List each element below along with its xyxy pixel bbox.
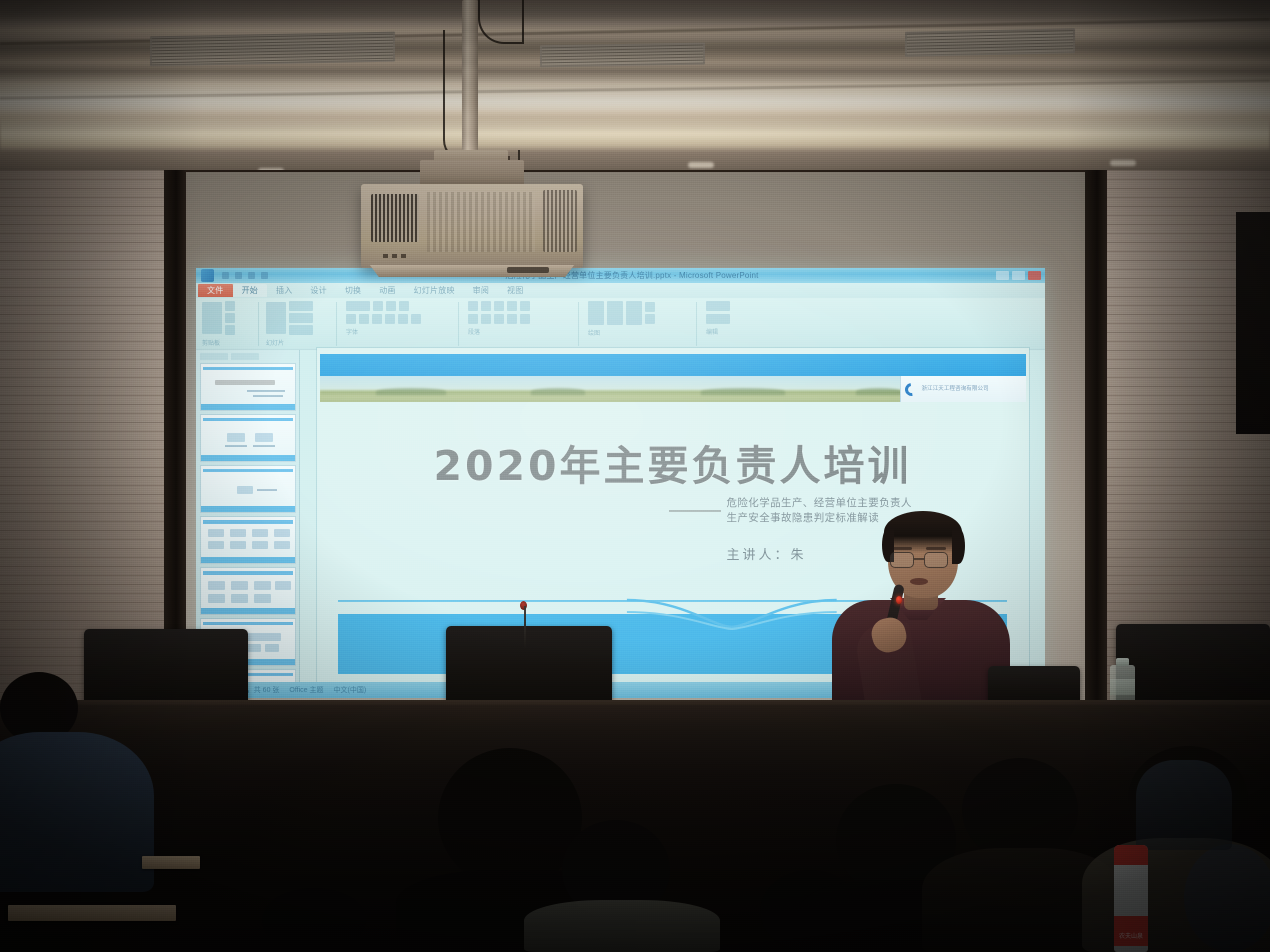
ac-vent-icon: [540, 43, 705, 68]
microphone-led-icon: [896, 596, 902, 604]
audience-desk: [142, 856, 200, 869]
water-bottle-audience: 农夫山泉: [1114, 845, 1148, 952]
quick-access-toolbar[interactable]: [222, 272, 268, 279]
tab-transitions[interactable]: 切换: [336, 284, 370, 297]
scene-photo: 危险化学品生产经营单位主要负责人培训.pptx - Microsoft Powe…: [0, 0, 1270, 952]
tab-slideshow[interactable]: 幻灯片放映: [405, 284, 464, 297]
list-item[interactable]: [200, 516, 296, 564]
company-mark-icon: [902, 380, 920, 398]
thumbnail-pane-tabs[interactable]: [200, 353, 295, 360]
window-titlebar: 危险化学品生产经营单位主要负责人培训.pptx - Microsoft Powe…: [196, 268, 1045, 283]
align-center-icon[interactable]: [481, 314, 491, 324]
list-item[interactable]: [200, 363, 296, 411]
bold-icon[interactable]: [346, 314, 356, 324]
audience-head: [438, 748, 582, 888]
open-book-icon: [626, 596, 836, 630]
projector-vent-icon: [543, 190, 577, 252]
arrange-button[interactable]: [607, 301, 623, 325]
company-name: 浙江江天工程咨询有限公司: [922, 386, 989, 392]
projector-bracket: [420, 160, 524, 186]
underline-icon[interactable]: [372, 314, 382, 324]
font-size-select[interactable]: [373, 301, 383, 311]
cove-light: [0, 118, 1270, 152]
slide-subtitle-rule: [669, 510, 721, 512]
tab-review[interactable]: 审阅: [464, 284, 498, 297]
replace-button[interactable]: [706, 314, 730, 324]
cut-icon[interactable]: [225, 301, 235, 311]
shrink-font-icon[interactable]: [399, 301, 409, 311]
font-color-icon[interactable]: [411, 314, 421, 324]
ribbon-group-label: 幻灯片: [266, 338, 284, 347]
list-item[interactable]: [200, 414, 296, 462]
audience-body: [524, 900, 720, 952]
projector-status-leds: [383, 254, 406, 258]
chair: [1116, 624, 1270, 708]
tab-file[interactable]: 文件: [198, 284, 233, 297]
ribbon-tabs[interactable]: 文件 开始 插入 设计 切换 动画 幻灯片放映 审阅 视图: [196, 283, 1045, 298]
justify-icon[interactable]: [507, 314, 517, 324]
slide-subtitle-line1: 危险化学品生产、经营单位主要负责人: [727, 496, 1017, 511]
quick-styles-button[interactable]: [626, 301, 642, 325]
ac-vent-icon: [150, 32, 395, 67]
minimize-button[interactable]: [996, 271, 1009, 280]
projector-vent-icon: [371, 194, 419, 242]
language-indicator[interactable]: 中文(中国): [334, 685, 367, 695]
save-icon[interactable]: [222, 272, 229, 279]
chair: [446, 626, 612, 707]
list-item[interactable]: [200, 567, 296, 615]
redo-icon[interactable]: [248, 272, 255, 279]
screen-frame-right: [1085, 170, 1107, 715]
outline-tab[interactable]: [231, 353, 259, 360]
ribbon-group-label: 编辑: [706, 327, 718, 336]
close-button[interactable]: [1028, 271, 1041, 280]
tab-animations[interactable]: 动画: [370, 284, 404, 297]
tab-view[interactable]: 视图: [498, 284, 532, 297]
layout-button[interactable]: [289, 301, 313, 311]
audience-head: [962, 758, 1078, 862]
audience-body: [0, 732, 154, 892]
window-controls[interactable]: [996, 271, 1041, 280]
strikethrough-icon[interactable]: [398, 314, 408, 324]
decrease-indent-icon[interactable]: [494, 301, 504, 311]
find-button[interactable]: [706, 301, 730, 311]
shapes-gallery[interactable]: [588, 301, 604, 325]
eyeglasses-icon: [924, 552, 948, 568]
office-orb-icon[interactable]: [201, 269, 214, 282]
increase-indent-icon[interactable]: [507, 301, 517, 311]
format-painter-icon[interactable]: [225, 325, 235, 335]
theme-name: Office 主题: [289, 685, 323, 695]
eyeglasses-icon: [890, 552, 914, 568]
tab-home[interactable]: 开始: [233, 284, 267, 297]
list-item[interactable]: [200, 465, 296, 513]
shape-fill-icon[interactable]: [645, 302, 655, 312]
ribbon-group-label: 剪贴板: [202, 338, 220, 347]
chair: [84, 629, 248, 707]
line-spacing-icon[interactable]: [520, 301, 530, 311]
audience-desk: [8, 905, 176, 921]
italic-icon[interactable]: [359, 314, 369, 324]
section-button[interactable]: [289, 325, 313, 335]
ribbon-group-label: 绘图: [588, 328, 600, 337]
audience-body: [1136, 760, 1232, 850]
columns-icon[interactable]: [520, 314, 530, 324]
ribbon-group-label: 段落: [468, 327, 480, 336]
ac-vent-icon: [905, 28, 1075, 57]
projector-lens: [507, 267, 549, 273]
ribbon-body[interactable]: 剪贴板 幻灯片: [196, 298, 1045, 350]
thumbnails-tab[interactable]: [200, 353, 228, 360]
numbering-icon[interactable]: [481, 301, 491, 311]
paste-button[interactable]: [202, 302, 222, 334]
copy-icon[interactable]: [225, 313, 235, 323]
tab-insert[interactable]: 插入: [267, 284, 301, 297]
align-left-icon[interactable]: [468, 314, 478, 324]
bottle-brand-label: 农夫山泉: [1114, 931, 1148, 940]
new-slide-button[interactable]: [266, 302, 286, 334]
ceiling-projector: [361, 184, 583, 268]
maximize-button[interactable]: [1012, 271, 1025, 280]
shape-outline-icon[interactable]: [645, 314, 655, 324]
ribbon-group-label: 字体: [346, 327, 358, 336]
font-family-select[interactable]: [346, 301, 370, 311]
reset-button[interactable]: [289, 313, 313, 323]
slide-header-band: [320, 354, 1026, 376]
audience-head: [262, 888, 366, 952]
shadow-icon[interactable]: [385, 314, 395, 324]
undo-icon[interactable]: [235, 272, 242, 279]
slide-company-logo: 浙江江天工程咨询有限公司: [900, 376, 1026, 402]
bullets-icon[interactable]: [468, 301, 478, 311]
tab-design[interactable]: 设计: [301, 284, 335, 297]
slide-title: 2020年主要负责人培训: [317, 432, 1029, 492]
desk-microphone-stem: [524, 606, 526, 650]
grow-font-icon[interactable]: [386, 301, 396, 311]
chevron-down-icon[interactable]: [261, 272, 268, 279]
align-right-icon[interactable]: [494, 314, 504, 324]
audience-area: [0, 700, 1270, 952]
audience-body: [1184, 844, 1270, 952]
wall-speaker-panel: [1236, 212, 1270, 434]
ceiling: [0, 0, 1270, 178]
